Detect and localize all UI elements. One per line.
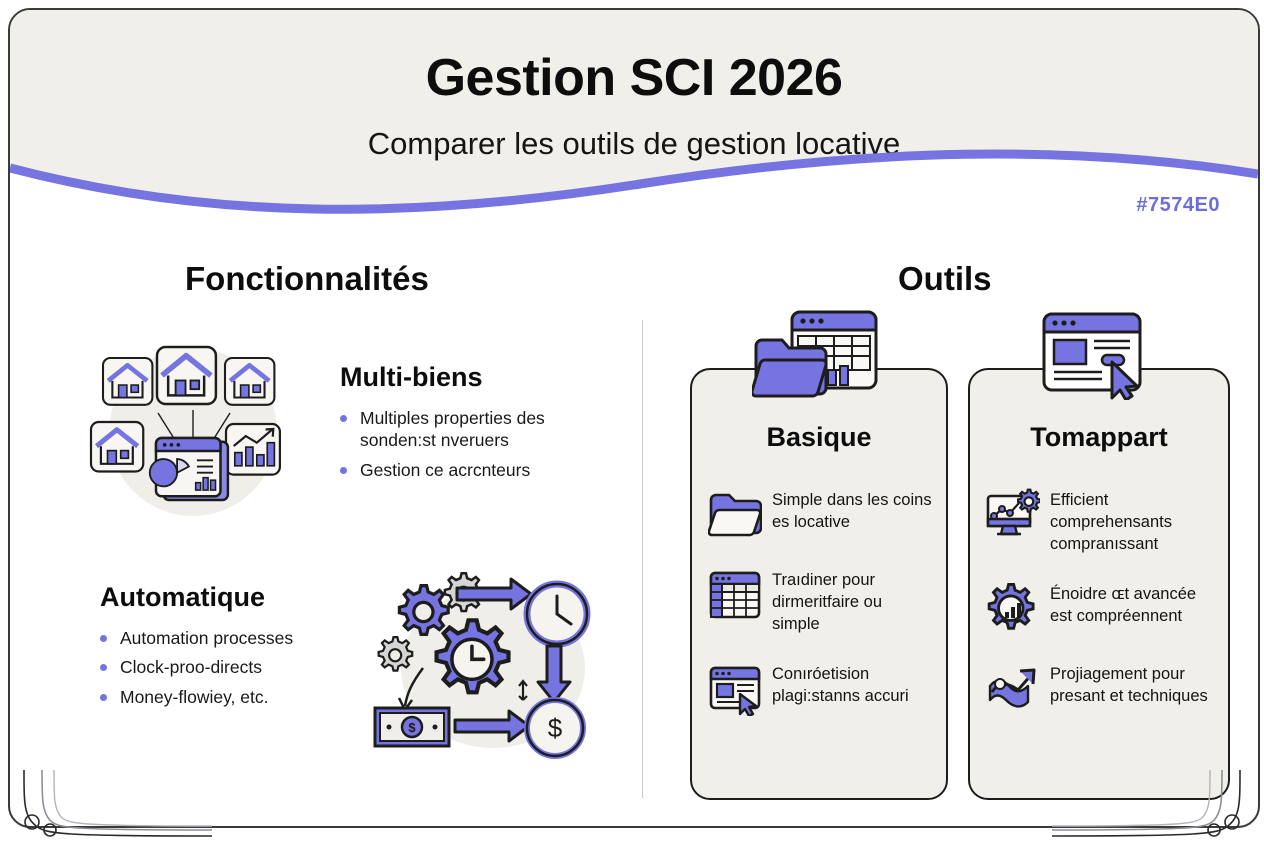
feature-automatique: Automatique Automation processes Clock-p… [100, 582, 390, 715]
bullet-dot-icon [340, 467, 347, 474]
bullet-text: Clock-proo-directs [120, 657, 262, 677]
bullet-text: Automation processes [120, 628, 293, 648]
card-item-list: Efficient comprehensants compranıssant É [986, 488, 1210, 742]
browser-window-cursor-icon [1040, 310, 1160, 400]
column-divider [642, 320, 643, 798]
item-text: Efficient comprehensants compranıssant [1050, 488, 1210, 556]
multi-property-dashboard-illustration [80, 340, 302, 522]
list-item: Projiagement pour presant et techniques [986, 662, 1210, 716]
list-item: Multiples properties des sonden:st nveru… [340, 407, 610, 452]
monitor-analytics-gear-icon [986, 488, 1040, 542]
corner-ornament-left [2, 770, 212, 846]
accent-hex-code: #7574E0 [1136, 194, 1220, 217]
folder-spreadsheet-icon [752, 310, 880, 398]
item-text: Énoidre ɶt avancée est compréennent [1050, 582, 1210, 628]
page-title: Gestion SCI 2026 [10, 48, 1258, 108]
list-item: Traıdiner pour dirmeritfaire ou simple [708, 568, 932, 636]
list-item: Conıróetision plagi:stanns accuri [708, 662, 932, 716]
browser-cursor-icon [708, 662, 762, 716]
feature-heading: Multi-biens [340, 362, 610, 393]
feature-heading: Automatique [100, 582, 390, 613]
folder-icon [708, 488, 762, 542]
bullet-text: Multiples properties des sonden:st nveru… [360, 408, 545, 450]
item-text: Simple dans les coins es locative [772, 488, 932, 534]
feature-bullet-list: Automation processes Clock-proo-directs … [100, 627, 390, 708]
automation-gears-clock-money-illustration: $ $ [365, 560, 605, 760]
item-text: Traıdiner pour dirmeritfaire ou simple [772, 568, 932, 636]
bullet-dot-icon [100, 694, 107, 701]
bullet-dot-icon [100, 664, 107, 671]
bullet-text: Gestion ce acrcnteurs [360, 460, 530, 480]
list-item: Automation processes [100, 627, 390, 649]
gear-barchart-icon [986, 582, 1040, 636]
svg-text:$: $ [548, 713, 563, 743]
card-title: Tomappart [970, 422, 1228, 453]
tool-card-tomappart[interactable]: Tomappart [968, 368, 1230, 800]
header-banner: Gestion SCI 2026 Comparer les outils de … [10, 10, 1258, 222]
feature-bullet-list: Multiples properties des sonden:st nveru… [340, 407, 610, 481]
infographic-frame: Gestion SCI 2026 Comparer les outils de … [8, 8, 1260, 828]
list-item: Money-flowiey, etc. [100, 686, 390, 708]
list-item: Efficient comprehensants compranıssant [986, 488, 1210, 556]
spreadsheet-icon [708, 568, 762, 622]
wave-divider [10, 134, 1258, 224]
bullet-text: Money-flowiey, etc. [120, 687, 268, 707]
growth-arrow-icon [986, 662, 1040, 716]
corner-ornament-right [1052, 770, 1262, 846]
list-item: Simple dans les coins es locative [708, 488, 932, 542]
feature-multi-biens: Multi-biens Multiples properties des son… [340, 362, 610, 488]
list-item: Gestion ce acrcnteurs [340, 459, 610, 481]
section-title-tools: Outils [898, 260, 992, 298]
list-item: Énoidre ɶt avancée est compréennent [986, 582, 1210, 636]
item-text: Projiagement pour presant et techniques [1050, 662, 1210, 708]
item-text: Conıróetision plagi:stanns accuri [772, 662, 932, 708]
card-item-list: Simple dans les coins es locative [708, 488, 932, 742]
bullet-dot-icon [100, 635, 107, 642]
section-title-features: Fonctionnalités [185, 260, 429, 298]
list-item: Clock-proo-directs [100, 656, 390, 678]
card-title: Basique [692, 422, 946, 453]
tool-card-basique[interactable]: Basique Simple dans les coins es locativ… [690, 368, 948, 800]
bullet-dot-icon [340, 415, 347, 422]
svg-text:$: $ [408, 720, 416, 735]
